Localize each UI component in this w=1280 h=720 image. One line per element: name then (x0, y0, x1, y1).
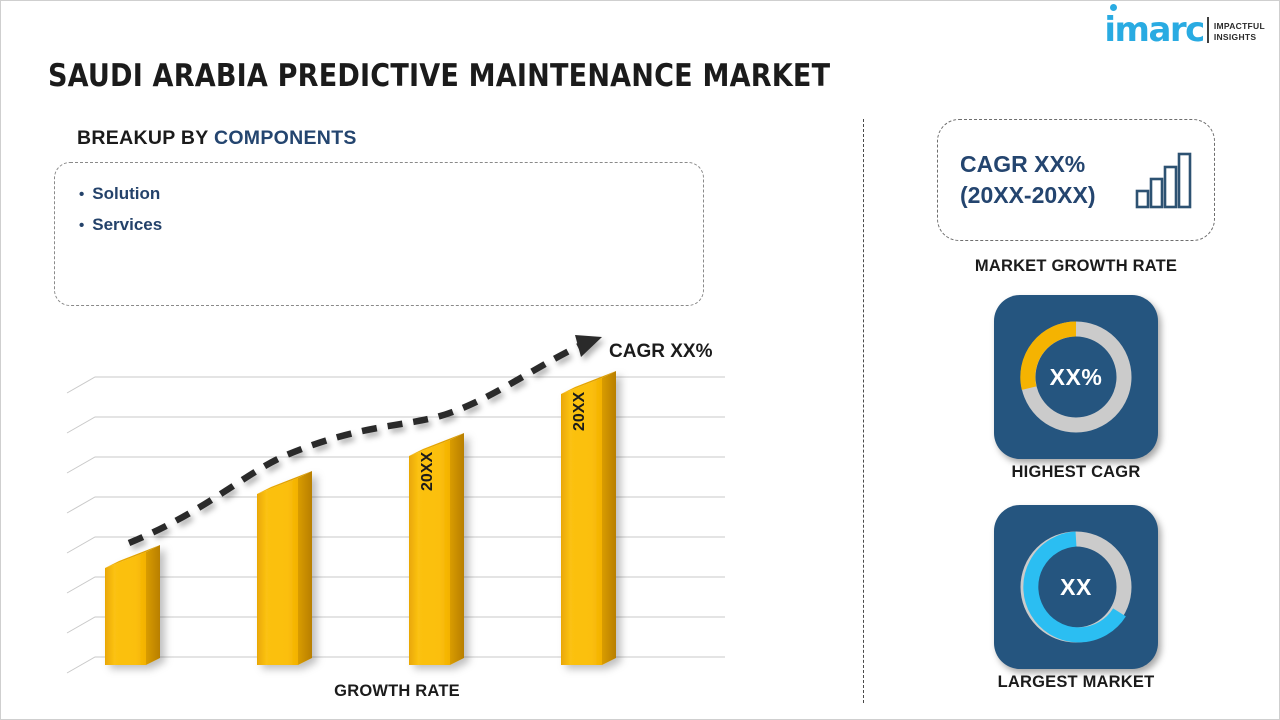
components-box: • Solution • Services (54, 162, 704, 306)
list-item: • Solution (79, 179, 703, 210)
bar-value-label: 20XX (571, 392, 588, 431)
imarc-logo: imarc IMPACTFUL INSIGHTS (1104, 15, 1265, 45)
bar-value-label: 20XX (419, 452, 436, 491)
page-title: SAUDI ARABIA PREDICTIVE MAINTENANCE MARK… (48, 58, 830, 94)
infographic-page: imarc IMPACTFUL INSIGHTS SAUDI ARABIA PR… (0, 0, 1280, 720)
breakup-heading-highlight: COMPONENTS (214, 127, 357, 149)
bullet-icon: • (79, 180, 84, 210)
highest-cagr-value: XX% (1050, 364, 1103, 391)
list-item: • Services (79, 210, 703, 241)
highest-cagr-caption: HIGHEST CAGR (881, 463, 1271, 482)
chart-bar (257, 471, 312, 665)
logo-divider (1207, 17, 1209, 43)
chart-svg: 20XX 20XX (57, 331, 737, 681)
logo-text: imarc (1104, 10, 1203, 50)
logo-tagline-line2: INSIGHTS (1214, 32, 1265, 43)
chart-trendline (129, 335, 602, 543)
chart-x-axis-label: GROWTH RATE (57, 682, 737, 701)
cagr-card-text: CAGR XX% (20XX-20XX) (960, 149, 1096, 211)
bullet-icon: • (79, 211, 84, 241)
largest-market-caption: LARGEST MARKET (881, 673, 1271, 692)
ascending-bars-icon (1134, 149, 1196, 211)
section-divider (863, 119, 864, 703)
chart-cagr-annotation: CAGR XX% (609, 341, 712, 363)
largest-market-value: XX (1060, 574, 1092, 601)
cagr-card-line2: (20XX-20XX) (960, 180, 1096, 211)
growth-rate-chart: 20XX 20XX GROWTH RATE (57, 331, 737, 681)
component-label: Solution (92, 179, 160, 209)
components-list: • Solution • Services (55, 163, 703, 241)
cagr-card-line1: CAGR XX% (960, 149, 1096, 180)
market-growth-rate-caption: MARKET GROWTH RATE (881, 257, 1271, 276)
chart-bar (409, 433, 464, 665)
component-label: Services (92, 210, 162, 240)
chart-bar (561, 371, 616, 665)
logo-tagline-line1: IMPACTFUL (1214, 21, 1265, 32)
logo-wordmark: imarc (1104, 15, 1203, 45)
logo-tagline: IMPACTFUL INSIGHTS (1214, 21, 1265, 45)
cagr-card: CAGR XX% (20XX-20XX) (937, 119, 1215, 241)
largest-market-tile: XX (994, 505, 1158, 669)
breakup-heading: BREAKUP BY COMPONENTS (77, 127, 357, 150)
breakup-heading-prefix: BREAKUP BY (77, 127, 214, 149)
chart-bar (105, 545, 160, 665)
highest-cagr-tile: XX% (994, 295, 1158, 459)
